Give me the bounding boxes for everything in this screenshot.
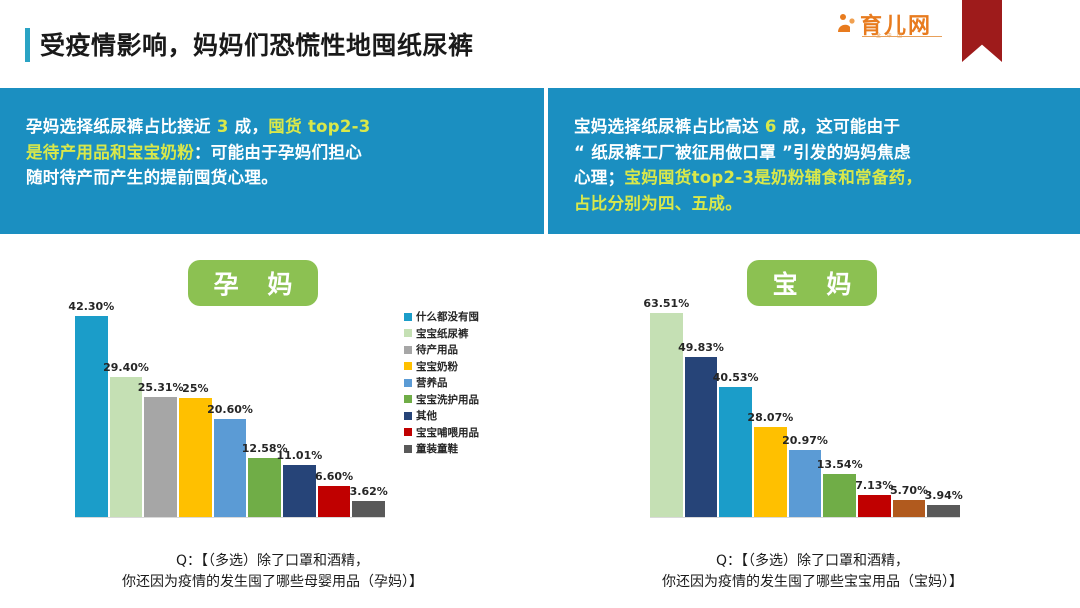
- bar: [719, 387, 752, 518]
- brand-logo-subtext: 全 中 国: [876, 32, 904, 39]
- chart-panel-baby: 宝 妈 63.51%49.83%40.53%28.07%20.97%13.54%…: [545, 240, 1080, 608]
- callout-span: 孕妈选择纸尿裤占比接近: [26, 117, 217, 136]
- callout-highlight: 6: [765, 117, 777, 136]
- legend-item[interactable]: 什么都没有囤: [404, 310, 479, 323]
- legend-label: 宝宝洗护用品: [416, 392, 479, 407]
- callout-span: 成，这可能由于: [777, 117, 901, 136]
- legend-item[interactable]: 宝宝哺喂用品: [404, 426, 479, 439]
- callout-line: 是待产用品和宝宝奶粉：可能由于孕妈们担心: [26, 140, 522, 166]
- brand-logo: 育儿网 全 中 国: [836, 8, 946, 44]
- bar-value-label: 11.01%: [276, 449, 322, 462]
- bar-value-label: 5.70%: [890, 484, 928, 497]
- bar-column: 29.40%: [110, 298, 143, 518]
- legend-label: 宝宝哺喂用品: [416, 425, 479, 440]
- legend-item[interactable]: 其他: [404, 409, 479, 422]
- bar: [858, 495, 891, 518]
- title-accent-bar: [25, 28, 30, 62]
- callout-line: 随时待产而产生的提前囤货心理。: [26, 165, 522, 191]
- callout-span: ：可能由于孕妈们担心: [194, 143, 362, 162]
- bar-value-label: 3.94%: [925, 489, 963, 502]
- legend-item[interactable]: 宝宝纸尿裤: [404, 327, 479, 340]
- legend-swatch: [404, 329, 412, 337]
- bar-value-label: 25.31%: [138, 381, 184, 394]
- bar: [110, 377, 143, 518]
- bar-column: 5.70%: [893, 298, 926, 518]
- bar-column: 28.07%: [754, 298, 787, 518]
- callout-text-baby: 宝妈选择纸尿裤占比高达 6 成，这可能由于“ 纸尿裤工厂被征用做口罩 ”引发的妈…: [574, 114, 1058, 216]
- legend-item[interactable]: 宝宝奶粉: [404, 360, 479, 373]
- caption-line-2: 你还因为疫情的发生囤了哪些母婴用品（孕妈）】: [0, 572, 545, 594]
- bar-column: 6.60%: [318, 298, 351, 518]
- callout-span: 宝妈选择纸尿裤占比高达: [574, 117, 765, 136]
- callout-highlight: 宝妈囤货top2-3是奶粉辅食和常备药，: [624, 168, 922, 187]
- chart-caption-baby: Q：【（多选）除了口罩和酒精， 你还因为疫情的发生囤了哪些宝宝用品（宝妈）】: [545, 551, 1080, 594]
- chart-baseline: [75, 517, 385, 518]
- baby-logo-icon: [836, 12, 858, 34]
- bar-value-label: 29.40%: [103, 361, 149, 374]
- bar: [214, 419, 247, 518]
- callout-line: 孕妈选择纸尿裤占比接近 3 成，囤货 top2-3: [26, 114, 522, 140]
- bar-column: 11.01%: [283, 298, 316, 518]
- legend-item[interactable]: 童装童鞋: [404, 442, 479, 455]
- callout-line: 宝妈选择纸尿裤占比高达 6 成，这可能由于: [574, 114, 1058, 140]
- bar: [893, 500, 926, 518]
- bar-value-label: 25%: [182, 382, 208, 395]
- bar-column: 42.30%: [75, 298, 108, 518]
- legend-label: 营养品: [416, 375, 448, 390]
- legend-item[interactable]: 营养品: [404, 376, 479, 389]
- bar-column: 63.51%: [650, 298, 683, 518]
- bar-column: 20.97%: [789, 298, 822, 518]
- callout-box-pregnant: 孕妈选择纸尿裤占比接近 3 成，囤货 top2-3是待产用品和宝宝奶粉：可能由于…: [0, 88, 544, 234]
- legend-item[interactable]: 宝宝洗护用品: [404, 393, 479, 406]
- legend-label: 什么都没有囤: [416, 309, 479, 324]
- bar: [75, 316, 108, 518]
- caption-line-2: 你还因为疫情的发生囤了哪些宝宝用品（宝妈）】: [545, 572, 1080, 594]
- legend-swatch: [404, 346, 412, 354]
- legend-swatch: [404, 412, 412, 420]
- legend-swatch: [404, 313, 412, 321]
- bar-value-label: 63.51%: [643, 297, 689, 310]
- slide-header: 受疫情影响，妈妈们恐慌性地囤纸尿裤 育儿网 全 中 国: [0, 0, 1080, 88]
- bar-series-baby: 63.51%49.83%40.53%28.07%20.97%13.54%7.13…: [650, 298, 960, 518]
- slide-root: 受疫情影响，妈妈们恐慌性地囤纸尿裤 育儿网 全 中 国 孕妈选择纸尿裤占比接近 …: [0, 0, 1080, 608]
- callout-highlight: 囤货 top2-3: [268, 117, 370, 136]
- callout-span: 成，: [229, 117, 269, 136]
- callout-box-baby: 宝妈选择纸尿裤占比高达 6 成，这可能由于“ 纸尿裤工厂被征用做口罩 ”引发的妈…: [548, 88, 1080, 234]
- bar: [248, 458, 281, 518]
- bar-column: 13.54%: [823, 298, 856, 518]
- legend-label: 宝宝纸尿裤: [416, 326, 469, 341]
- callout-span: “ 纸尿裤工厂被征用做口罩 ”引发的妈妈焦虑: [574, 143, 911, 162]
- legend-item[interactable]: 待产用品: [404, 343, 479, 356]
- bar-column: 3.94%: [927, 298, 960, 518]
- chart-legend-pregnant: 什么都没有囤宝宝纸尿裤待产用品宝宝奶粉营养品宝宝洗护用品其他宝宝哺喂用品童装童鞋: [404, 310, 479, 459]
- chart-caption-pregnant: Q：【（多选）除了口罩和酒精， 你还因为疫情的发生囤了哪些母婴用品（孕妈）】: [0, 551, 545, 594]
- bar-chart-pregnant: 42.30%29.40%25.31%25%20.60%12.58%11.01%6…: [75, 298, 385, 518]
- callout-highlight: 是待产用品和宝宝奶粉: [26, 143, 194, 162]
- bar: [283, 465, 316, 518]
- legend-swatch: [404, 379, 412, 387]
- ribbon-decoration: [962, 0, 1002, 62]
- bar-column: 7.13%: [858, 298, 891, 518]
- bar: [144, 397, 177, 518]
- bar-column: 40.53%: [719, 298, 752, 518]
- page-title: 受疫情影响，妈妈们恐慌性地囤纸尿裤: [40, 26, 474, 62]
- legend-label: 其他: [416, 408, 437, 423]
- bar-column: 25.31%: [144, 298, 177, 518]
- bar-value-label: 7.13%: [855, 479, 893, 492]
- bar-value-label: 13.54%: [817, 458, 863, 471]
- legend-label: 宝宝奶粉: [416, 359, 458, 374]
- bar-value-label: 28.07%: [747, 411, 793, 424]
- bar: [823, 474, 856, 518]
- caption-line-1: Q：【（多选）除了口罩和酒精，: [545, 551, 1080, 573]
- caption-line-1: Q：【（多选）除了口罩和酒精，: [0, 551, 545, 573]
- bar-column: 49.83%: [685, 298, 718, 518]
- legend-swatch: [404, 445, 412, 453]
- bar: [352, 501, 385, 518]
- bar-series-pregnant: 42.30%29.40%25.31%25%20.60%12.58%11.01%6…: [75, 298, 385, 518]
- bar-value-label: 20.60%: [207, 403, 253, 416]
- bar-value-label: 3.62%: [350, 485, 388, 498]
- callout-line: 占比分别为四、五成。: [574, 191, 1058, 217]
- bar-value-label: 42.30%: [68, 300, 114, 313]
- legend-label: 童装童鞋: [416, 441, 458, 456]
- bar-chart-baby: 63.51%49.83%40.53%28.07%20.97%13.54%7.13…: [650, 298, 960, 518]
- callout-span: 心理；: [574, 168, 624, 187]
- callout-span: 随时待产而产生的提前囤货心理。: [26, 168, 278, 187]
- bar-column: 12.58%: [248, 298, 281, 518]
- legend-swatch: [404, 362, 412, 370]
- chart-baseline: [650, 517, 960, 518]
- bar-value-label: 40.53%: [713, 371, 759, 384]
- chart-panel-pregnant: 孕 妈 42.30%29.40%25.31%25%20.60%12.58%11.…: [0, 240, 545, 608]
- legend-label: 待产用品: [416, 342, 458, 357]
- callout-highlight: 占比分别为四、五成。: [574, 194, 742, 213]
- legend-swatch: [404, 395, 412, 403]
- bar-column: 20.60%: [214, 298, 247, 518]
- bar-column: 3.62%: [352, 298, 385, 518]
- callout-text-pregnant: 孕妈选择纸尿裤占比接近 3 成，囤货 top2-3是待产用品和宝宝奶粉：可能由于…: [26, 114, 522, 191]
- bar-value-label: 49.83%: [678, 341, 724, 354]
- legend-swatch: [404, 428, 412, 436]
- bar-value-label: 20.97%: [782, 434, 828, 447]
- callout-highlight: 3: [217, 117, 229, 136]
- bar-value-label: 6.60%: [315, 470, 353, 483]
- callout-line: 心理；宝妈囤货top2-3是奶粉辅食和常备药，: [574, 165, 1058, 191]
- bar: [318, 486, 351, 518]
- callout-line: “ 纸尿裤工厂被征用做口罩 ”引发的妈妈焦虑: [574, 140, 1058, 166]
